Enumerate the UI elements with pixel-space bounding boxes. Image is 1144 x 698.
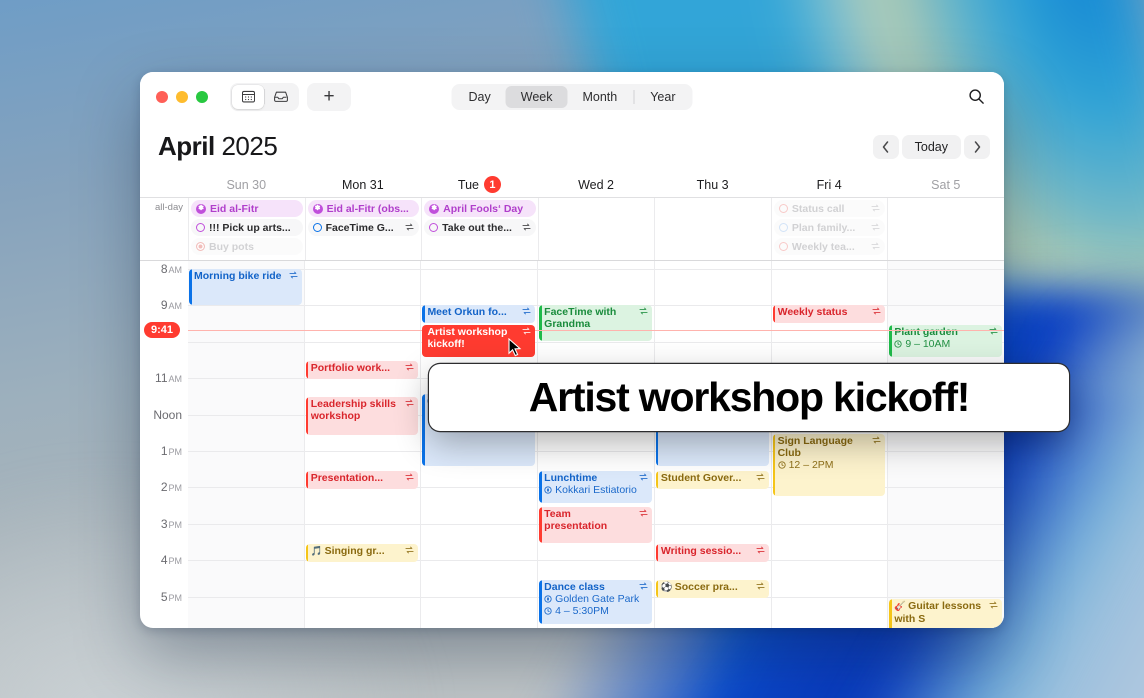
event-block[interactable]: 🎵Singing gr... (306, 544, 419, 562)
tab-month[interactable]: Month (567, 86, 632, 108)
event-location: Kokkari Estiatorio (544, 484, 648, 496)
event-title: Artist workshop kickoff! (427, 326, 519, 350)
event-color-bar (656, 544, 659, 562)
repeat-icon (872, 306, 881, 318)
event-title: 🎸Guitar lessons with S (894, 600, 986, 625)
date-navigation: Today (873, 135, 990, 159)
view-mode-toolbar-group (230, 83, 299, 111)
all-day-event-title: April Fools‘ Day (443, 203, 531, 215)
all-day-task-chip[interactable]: Weekly tea... (774, 238, 886, 255)
hour-label: 2PM (161, 480, 182, 494)
day-column-thu[interactable]: 11AM – 1PMStudent Gover...Writing sessio… (654, 261, 771, 628)
repeat-icon (639, 508, 648, 520)
hour-gridline (305, 305, 421, 306)
event-title: Writing sessio... (661, 545, 753, 557)
hour-gridline (655, 305, 771, 306)
all-day-column-sat[interactable] (887, 198, 1004, 260)
task-checkbox-icon[interactable] (196, 223, 205, 232)
hour-gridline (655, 342, 771, 343)
repeat-icon (405, 398, 414, 410)
segment-divider (633, 90, 634, 104)
all-day-task-chip[interactable]: Take out the... (424, 219, 536, 236)
day-header-tue[interactable]: Tue 1 (421, 172, 538, 197)
all-day-holiday-chip[interactable]: ✽April Fools‘ Day (424, 200, 536, 217)
today-date-badge: 1 (484, 176, 501, 193)
event-tooltip: Artist workshop kickoff! (429, 364, 1069, 431)
holiday-star-icon: ✽ (429, 204, 439, 214)
event-block[interactable]: Dance classGolden Gate Park4 – 5:30PM (539, 580, 652, 624)
repeat-icon (405, 223, 414, 233)
hour-gridline (538, 451, 654, 452)
repeat-icon (639, 581, 648, 593)
repeat-icon (639, 472, 648, 484)
task-checkbox-icon[interactable] (429, 223, 438, 232)
hour-gridline (305, 269, 421, 270)
page-title: April 2025 (158, 131, 277, 162)
event-color-bar (773, 305, 776, 323)
hour-gridline (305, 597, 421, 598)
event-block[interactable]: Writing sessio... (656, 544, 769, 562)
all-day-task-chip[interactable]: FaceTime G... (308, 219, 420, 236)
hour-gridline (188, 487, 304, 488)
next-week-button[interactable] (964, 135, 990, 159)
tab-year[interactable]: Year (635, 86, 690, 108)
hour-gridline (888, 524, 1004, 525)
repeat-icon (405, 545, 414, 557)
time-gutter: 8AM9AM11AMNoon1PM2PM3PM4PM5PM9:41 (140, 261, 188, 628)
event-color-bar (189, 269, 192, 305)
event-color-bar (306, 544, 309, 562)
event-title: Plant garden (894, 326, 986, 338)
hour-label: Noon (153, 408, 182, 422)
repeat-icon (522, 306, 531, 318)
event-title: Morning bike ride (194, 270, 286, 282)
hour-gridline (888, 487, 1004, 488)
event-block[interactable]: Sign Language Club12 – 2PM (773, 434, 886, 496)
day-column-fri[interactable]: Weekly statusSign Language Club12 – 2PM (771, 261, 888, 628)
holiday-star-icon: ✽ (196, 204, 206, 214)
repeat-icon (405, 472, 414, 484)
event-title: Weekly status (778, 306, 870, 318)
current-time-line (188, 330, 1004, 331)
day-header-fri[interactable]: Fri 4 (771, 172, 888, 197)
day-column-tue[interactable]: Meet Orkun fo...Artist workshop kickoff!… (420, 261, 537, 628)
event-title: Team presentation (544, 508, 636, 532)
day-header-sun[interactable]: Sun 30 (188, 172, 305, 197)
event-title: Lunchtime (544, 472, 636, 484)
hour-label: 5PM (161, 590, 182, 604)
hour-gridline (188, 305, 304, 306)
day-label: Sat 5 (931, 178, 960, 192)
event-color-bar (539, 305, 542, 341)
tab-week[interactable]: Week (506, 86, 568, 108)
all-day-section: all-day ✽Eid al-Fitr!!! Pick up arts...B… (140, 198, 1004, 261)
event-block[interactable]: FaceTime with Grandma (539, 305, 652, 341)
day-label: Fri 4 (817, 178, 842, 192)
hour-gridline (188, 378, 304, 379)
event-color-bar (773, 434, 776, 496)
day-header-row: Sun 30 Mon 31 Tue 1 Wed 2 Thu 3 Fri 4 Sa… (140, 172, 1004, 198)
repeat-icon (639, 306, 648, 318)
hour-gridline (305, 524, 421, 525)
event-block[interactable]: LunchtimeKokkari Estiatorio (539, 471, 652, 503)
mouse-cursor (508, 338, 522, 358)
all-day-column-tue[interactable]: ✽April Fools‘ DayTake out the... (421, 198, 538, 260)
event-color-bar (656, 471, 659, 489)
hour-gridline (421, 597, 537, 598)
traffic-light-buttons (156, 91, 208, 103)
day-columns: Morning bike ride Portfolio work...Leade… (188, 261, 1004, 628)
repeat-icon (756, 581, 765, 593)
hour-gridline (421, 487, 537, 488)
event-title: 🎵Singing gr... (311, 545, 403, 558)
window-toolbar: + Day Week Month Year (140, 72, 1004, 121)
event-color-bar (539, 471, 542, 503)
hour-label: 3PM (161, 517, 182, 531)
day-column-mon[interactable]: Portfolio work...Leadership skills works… (304, 261, 421, 628)
hour-gridline (421, 560, 537, 561)
add-event-button[interactable]: + (307, 83, 351, 111)
hour-label: 4PM (161, 553, 182, 567)
current-time-badge: 9:41 (144, 322, 180, 338)
day-label: Sun 30 (226, 178, 266, 192)
task-checkbox-icon[interactable] (313, 223, 322, 232)
hour-gridline (421, 524, 537, 525)
event-block[interactable]: ⚽Soccer pra... (656, 580, 769, 598)
hour-gridline (538, 560, 654, 561)
all-day-task-chip[interactable]: Buy pots (191, 238, 303, 255)
event-time: 4 – 5:30PM (544, 605, 648, 617)
all-day-event-title: !!! Pick up arts... (209, 222, 298, 234)
hour-gridline (538, 342, 654, 343)
hour-gridline (188, 560, 304, 561)
task-checkbox-icon[interactable] (779, 242, 788, 251)
event-block[interactable]: Team presentation (539, 507, 652, 543)
event-time: 12 – 2PM (778, 459, 882, 471)
event-color-bar (306, 397, 309, 435)
event-color-bar (306, 361, 309, 379)
all-day-event-title: Plan family... (792, 222, 868, 234)
hour-gridline (888, 305, 1004, 306)
task-checkbox-icon[interactable] (196, 242, 205, 251)
event-title: Portfolio work... (311, 362, 403, 374)
title-year: 2025 (221, 131, 277, 161)
hour-gridline (188, 415, 304, 416)
hour-gridline (655, 524, 771, 525)
all-day-task-chip[interactable]: Status call (774, 200, 886, 217)
tooltip-text: Artist workshop kickoff! (529, 374, 969, 421)
week-grid: 8AM9AM11AMNoon1PM2PM3PM4PM5PM9:41 Mornin… (140, 261, 1004, 628)
all-day-label: all-day (140, 198, 188, 260)
inbox-icon[interactable] (265, 85, 297, 109)
day-label: Mon 31 (342, 178, 384, 192)
all-day-event-title: Eid al-Fitr (obs... (327, 203, 415, 215)
event-block[interactable]: Meet Orkun fo... (422, 305, 535, 323)
previous-week-button[interactable] (873, 135, 899, 159)
repeat-icon (756, 545, 765, 557)
event-block[interactable]: Student Gover... (656, 471, 769, 489)
repeat-icon (405, 362, 414, 374)
event-color-bar (422, 305, 425, 323)
event-title: Student Gover... (661, 472, 753, 484)
all-day-column-mon[interactable]: ✽Eid al-Fitr (obs...FaceTime G... (305, 198, 422, 260)
event-block[interactable]: Weekly status (773, 305, 886, 323)
today-button[interactable]: Today (902, 135, 961, 159)
event-emoji-icon: 🎸 (894, 601, 906, 612)
day-header-thu[interactable]: Thu 3 (654, 172, 771, 197)
repeat-icon (989, 600, 998, 612)
all-day-event-title: Weekly tea... (792, 241, 868, 253)
maximize-button[interactable] (196, 91, 208, 103)
event-emoji-icon: ⚽ (661, 582, 673, 593)
minimize-button[interactable] (176, 91, 188, 103)
calendar-window: + Day Week Month Year April 2025 Today (140, 72, 1004, 628)
repeat-icon (289, 270, 298, 282)
day-label: Thu 3 (697, 178, 729, 192)
hour-gridline (888, 597, 1004, 598)
event-block[interactable]: Morning bike ride (189, 269, 302, 305)
hour-gridline (888, 269, 1004, 270)
hour-gridline (888, 451, 1004, 452)
event-color-bar (422, 394, 425, 466)
event-block[interactable]: Presentation... (306, 471, 419, 489)
all-day-event-title: Status call (792, 203, 868, 215)
all-day-task-chip[interactable]: !!! Pick up arts... (191, 219, 303, 236)
event-color-bar (656, 580, 659, 598)
repeat-icon (522, 223, 531, 233)
all-day-event-title: Take out the... (442, 222, 518, 234)
close-button[interactable] (156, 91, 168, 103)
all-day-holiday-chip[interactable]: ✽Eid al-Fitr (obs... (308, 200, 420, 217)
event-title: ⚽Soccer pra... (661, 581, 753, 594)
all-day-event-title: Eid al-Fitr (210, 203, 298, 215)
hour-label: 8AM (161, 262, 182, 276)
event-block[interactable]: Portfolio work... (306, 361, 419, 379)
event-color-bar (306, 471, 309, 489)
repeat-icon (871, 223, 880, 233)
all-day-event-title: FaceTime G... (326, 222, 402, 234)
repeat-icon (522, 326, 531, 338)
hour-gridline (188, 597, 304, 598)
day-column-sat[interactable]: Plant garden9 – 10AM🎸Guitar lessons with… (887, 261, 1004, 628)
day-header-sat[interactable]: Sat 5 (887, 172, 1004, 197)
event-title: Leadership skills workshop (311, 398, 403, 422)
hour-gridline (305, 342, 421, 343)
calendar-icon[interactable] (232, 85, 264, 109)
day-header-mon[interactable]: Mon 31 (305, 172, 422, 197)
gutter-spacer (140, 172, 188, 197)
all-day-event-title: Buy pots (209, 241, 298, 253)
title-month: April (158, 131, 215, 161)
tab-day[interactable]: Day (454, 86, 506, 108)
hour-gridline (772, 597, 888, 598)
hour-gridline (305, 451, 421, 452)
event-location: Golden Gate Park (544, 593, 648, 605)
hour-gridline (772, 524, 888, 525)
event-title: Sign Language Club (778, 435, 870, 459)
hour-gridline (655, 269, 771, 270)
hour-gridline (772, 560, 888, 561)
holiday-star-icon: ✽ (313, 204, 323, 214)
event-emoji-icon: 🎵 (311, 546, 323, 557)
all-day-column-wed[interactable] (538, 198, 655, 260)
day-column-sun[interactable]: Morning bike ride (188, 261, 304, 628)
all-day-column-sun[interactable]: ✽Eid al-Fitr!!! Pick up arts...Buy pots (188, 198, 305, 260)
hour-gridline (772, 342, 888, 343)
repeat-icon (871, 242, 880, 252)
hour-gridline (421, 269, 537, 270)
event-title: Dance class (544, 581, 636, 593)
event-color-bar (889, 599, 892, 628)
event-title: Meet Orkun fo... (427, 306, 519, 318)
all-day-column-fri[interactable]: Status callPlan family...Weekly tea... (771, 198, 888, 260)
event-title: Presentation... (311, 472, 403, 484)
hour-label: 9AM (161, 298, 182, 312)
hour-gridline (538, 269, 654, 270)
title-row: April 2025 Today (140, 121, 1004, 172)
all-day-column-thu[interactable] (654, 198, 771, 260)
view-switcher: Day Week Month Year (452, 84, 693, 110)
day-label: Wed 2 (578, 178, 614, 192)
event-color-bar (539, 580, 542, 624)
hour-gridline (888, 560, 1004, 561)
all-day-holiday-chip[interactable]: ✽Eid al-Fitr (191, 200, 303, 217)
event-color-bar (539, 507, 542, 543)
task-checkbox-icon[interactable] (779, 204, 788, 213)
hour-gridline (188, 342, 304, 343)
event-block[interactable]: 🎸Guitar lessons with S (889, 599, 1002, 628)
all-day-task-chip[interactable]: Plan family... (774, 219, 886, 236)
repeat-icon (872, 435, 881, 447)
search-icon[interactable] (962, 83, 990, 111)
event-time: 9 – 10AM (894, 338, 998, 350)
task-checkbox-icon[interactable] (779, 223, 788, 232)
day-column-wed[interactable]: FaceTime with GrandmaLunchtimeKokkari Es… (537, 261, 654, 628)
hour-gridline (188, 524, 304, 525)
day-header-wed[interactable]: Wed 2 (538, 172, 655, 197)
day-label: Tue (458, 178, 479, 192)
repeat-icon (989, 326, 998, 338)
hour-label: 11AM (155, 371, 182, 385)
hour-label: 1PM (161, 444, 182, 458)
hour-gridline (772, 269, 888, 270)
event-block[interactable]: Leadership skills workshop (306, 397, 419, 435)
hour-gridline (188, 451, 304, 452)
repeat-icon (871, 204, 880, 214)
repeat-icon (756, 472, 765, 484)
event-title: FaceTime with Grandma (544, 306, 636, 330)
